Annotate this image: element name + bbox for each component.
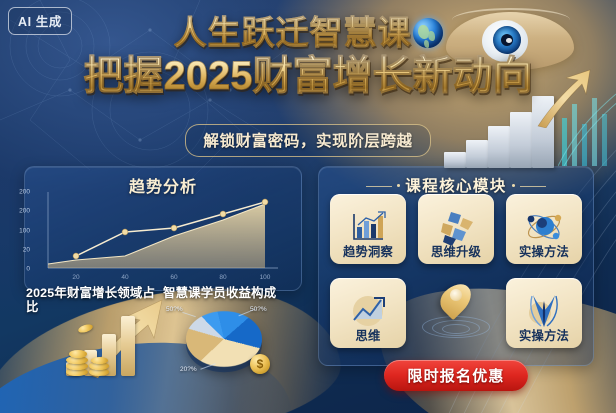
y-tick-label: 200 — [19, 189, 30, 196]
module-card-practical-method-1[interactable]: 实操方法 — [506, 194, 582, 264]
module-card-mindset-upgrade[interactable]: 思维升级 — [418, 194, 494, 264]
globe-icon — [413, 18, 443, 48]
pie-slice-label: 50?% — [166, 306, 183, 313]
divider-right — [520, 186, 546, 187]
trend-chart-svg — [34, 190, 282, 272]
x-tick-label: 60 — [170, 274, 177, 281]
module-card-label: 思维升级 — [431, 246, 481, 259]
pie-leader-line — [182, 312, 196, 317]
cta-label: 限时报名优惠 — [407, 365, 504, 386]
coin-stack-icon — [60, 342, 124, 376]
y-tick-label: 100 — [19, 228, 30, 235]
leaf-icon — [523, 293, 565, 329]
header-section: 人生跃迁智慧课 把握2025财富增长新动向 解锁财富密码，实现阶层跨越 — [0, 0, 616, 162]
module-card-practical-method-2[interactable]: 实操方法 — [506, 278, 582, 348]
x-tick-label: 20 — [72, 274, 79, 281]
page-title-line2: 把握2025财富增长新动向 — [0, 53, 616, 99]
modules-panel-title: 课程核心模块 — [319, 167, 593, 196]
y-tick-label: 0 — [26, 266, 30, 273]
y-tick-label: 200 — [19, 208, 30, 215]
divider-left — [366, 186, 392, 187]
module-card-label: 实操方法 — [519, 330, 569, 343]
poster-root: AI 生成 — [0, 0, 616, 413]
x-tick-label: 40 — [121, 274, 128, 281]
pie-section-label: 智慧课学员收益构成 — [163, 286, 313, 300]
bar-chart-icon — [347, 209, 389, 245]
income-composition-pie-chart: 50?% 50?% 20?% $ — [180, 302, 266, 376]
module-card-mindset[interactable]: 思维 — [330, 278, 406, 348]
page-title-line1: 人生跃迁智慧课 — [174, 14, 412, 52]
trend-arrow-icon — [347, 293, 389, 329]
y-tick-label: 20 — [23, 247, 30, 254]
module-card-label: 实操方法 — [519, 246, 569, 259]
module-card-grid: 趋势洞察 思维升级 实操方法 — [330, 194, 582, 354]
title-block: 人生跃迁智慧课 把握2025财富增长新动向 — [0, 14, 616, 99]
bar-section-label: 2025年财富增长领域占比 — [26, 286, 158, 314]
cta-button[interactable]: 限时报名优惠 — [384, 360, 528, 391]
modules-title-text: 课程核心模块 — [405, 178, 506, 195]
x-tick-label: 100 — [260, 274, 271, 281]
atom-icon — [523, 209, 565, 245]
dollar-coin-icon: $ — [250, 354, 270, 374]
subtitle-block: 解锁财富密码，实现阶层跨越 — [0, 124, 616, 157]
puzzle-icon — [435, 209, 477, 245]
x-tick-label: 80 — [219, 274, 226, 281]
module-card-label: 趋势洞察 — [343, 246, 393, 259]
trend-line-chart: 200 200 100 20 0 20 40 60 80 100 — [34, 190, 282, 272]
module-card-label: 思维 — [356, 330, 381, 343]
module-card-trend-insight[interactable]: 趋势洞察 — [330, 194, 406, 264]
pie-slice-label: 20?% — [180, 366, 197, 373]
subtitle-text: 解锁财富密码，实现阶层跨越 — [185, 124, 430, 157]
ai-generated-badge: AI 生成 — [8, 7, 72, 35]
location-pin-icon — [418, 278, 494, 348]
pie-slice-label: 50?% — [250, 306, 267, 313]
